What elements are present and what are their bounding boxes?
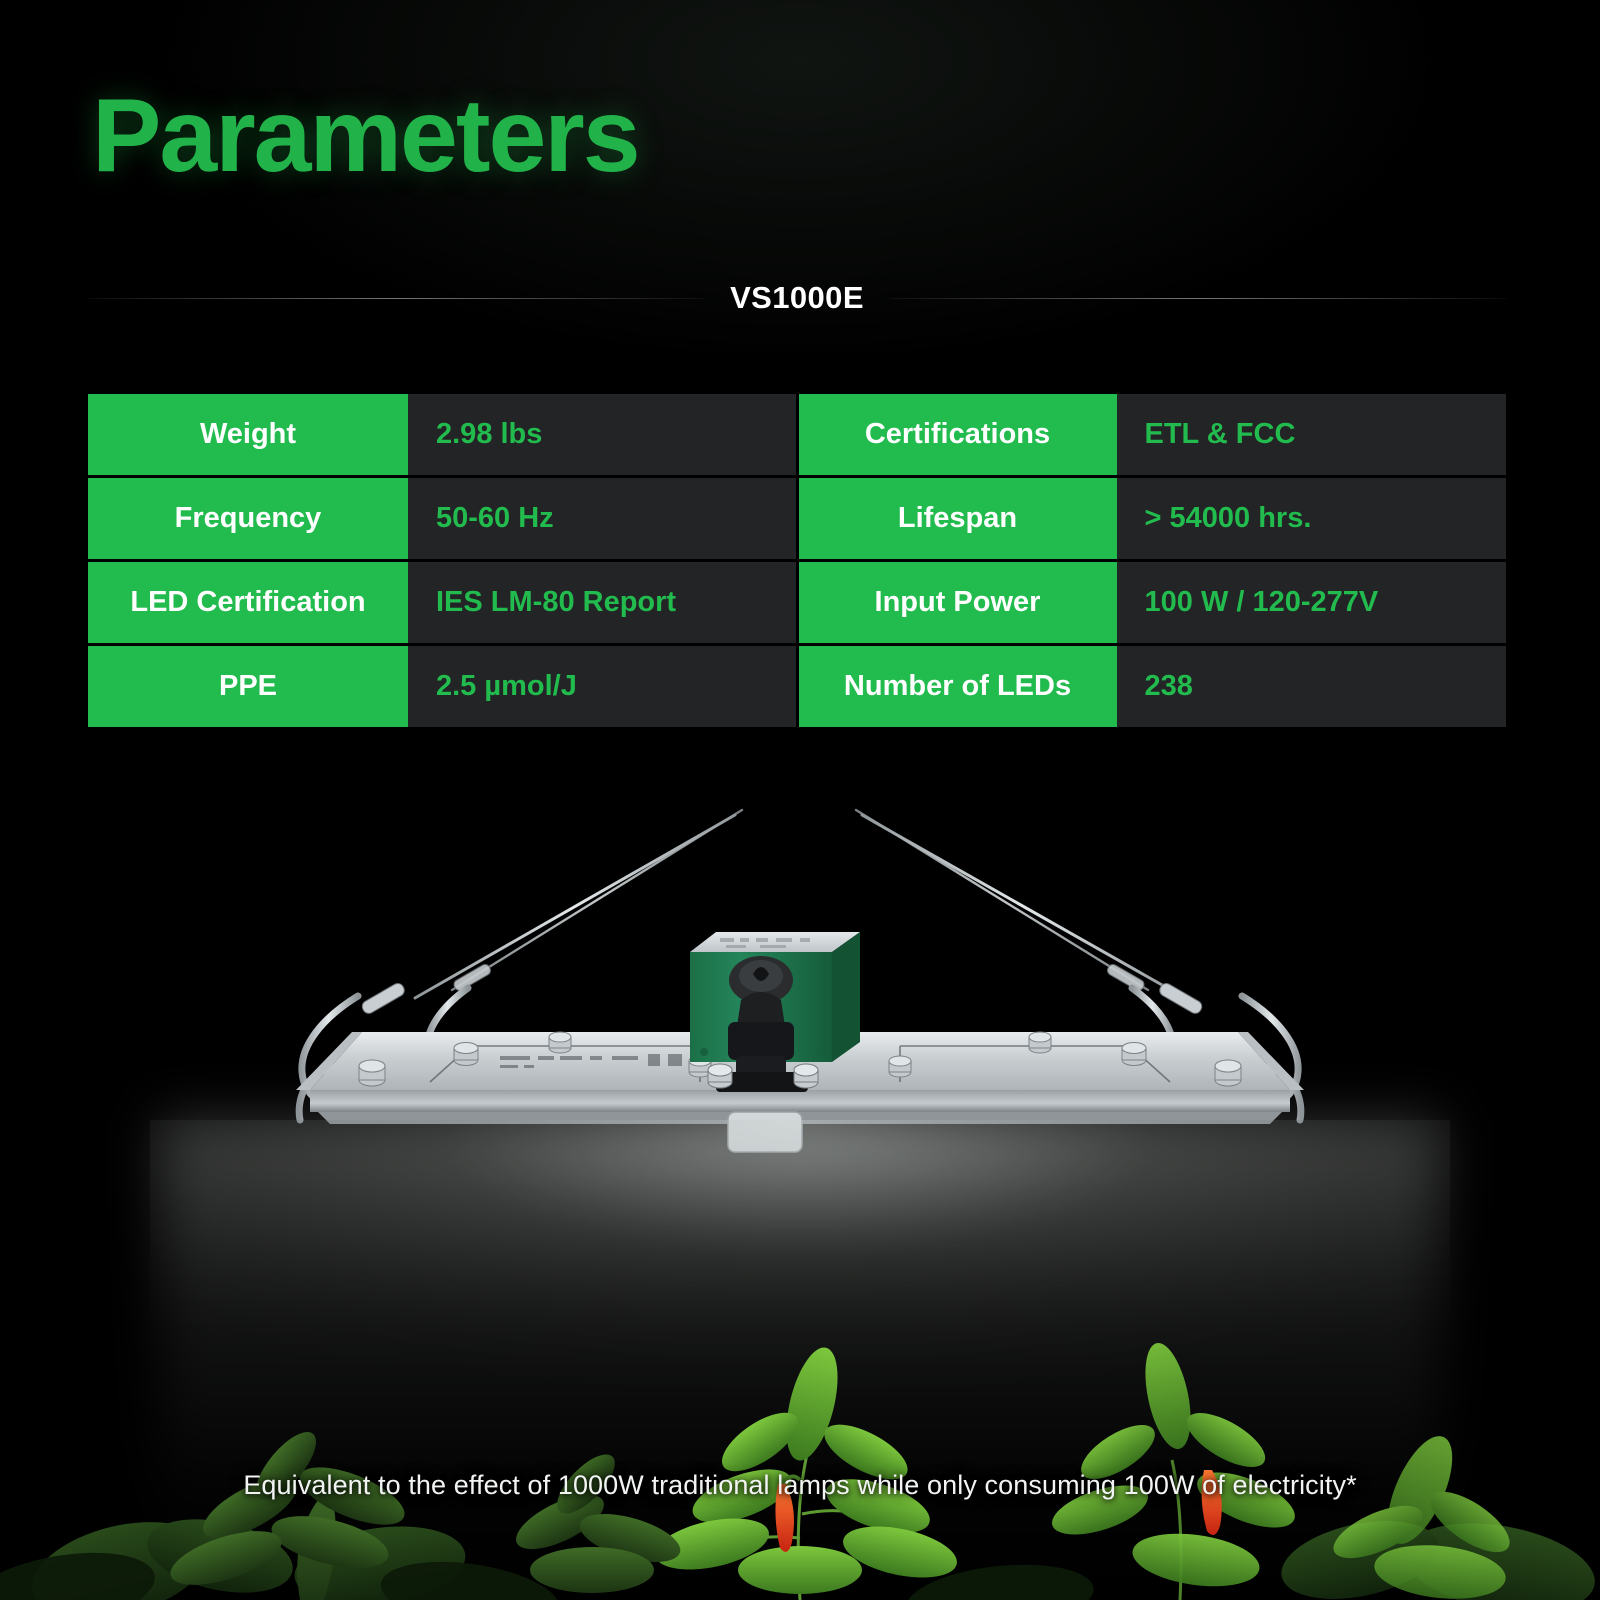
spec-label: LED Certification [88, 562, 408, 643]
spec-label: Certifications [799, 394, 1117, 475]
divider-line-right [890, 298, 1506, 299]
spec-value: ETL & FCC [1117, 394, 1507, 475]
spec-value: 238 [1117, 646, 1507, 727]
table-row-right-pair: Number of LEDs 238 [799, 646, 1507, 727]
plant-mid-left [509, 1446, 686, 1593]
table-row-right-pair: Lifespan > 54000 hrs. [799, 478, 1507, 559]
table-row-left-pair: Weight 2.98 lbs [88, 394, 796, 475]
spec-value: > 54000 hrs. [1117, 478, 1507, 559]
page-title: Parameters [92, 82, 639, 191]
table-row-left-pair: Frequency 50-60 Hz [88, 478, 796, 559]
spec-value: 50-60 Hz [408, 478, 796, 559]
table-row-left-pair: LED Certification IES LM-80 Report [88, 562, 796, 643]
table-row-left-pair: PPE 2.5 µmol/J [88, 646, 796, 727]
spec-value: 100 W / 120-277V [1117, 562, 1507, 643]
model-name: VS1000E [730, 280, 864, 316]
specifications-table: Weight 2.98 lbs Certifications ETL & FCC… [88, 394, 1506, 727]
spec-label: Weight [88, 394, 408, 475]
product-parameters-page: Parameters VS1000E Weight 2.98 lbs Certi… [0, 0, 1600, 1600]
divider-line-left [88, 298, 704, 299]
table-row-right-pair: Input Power 100 W / 120-277V [799, 562, 1507, 643]
plants-illustration [0, 1270, 1600, 1600]
table-row: LED Certification IES LM-80 Report Input… [88, 562, 1506, 643]
spec-label: Lifespan [799, 478, 1117, 559]
model-divider-row: VS1000E [88, 268, 1506, 328]
spec-value: 2.5 µmol/J [408, 646, 796, 727]
spec-label: Frequency [88, 478, 408, 559]
table-row: Frequency 50-60 Hz Lifespan > 54000 hrs. [88, 478, 1506, 559]
spec-value: IES LM-80 Report [408, 562, 796, 643]
table-row: PPE 2.5 µmol/J Number of LEDs 238 [88, 646, 1506, 727]
table-row-right-pair: Certifications ETL & FCC [799, 394, 1507, 475]
spec-label: Number of LEDs [799, 646, 1117, 727]
spec-label: Input Power [799, 562, 1117, 643]
spec-value: 2.98 lbs [408, 394, 796, 475]
table-row: Weight 2.98 lbs Certifications ETL & FCC [88, 394, 1506, 475]
spec-label: PPE [88, 646, 408, 727]
footer-caption: Equivalent to the effect of 1000W tradit… [0, 1470, 1600, 1501]
